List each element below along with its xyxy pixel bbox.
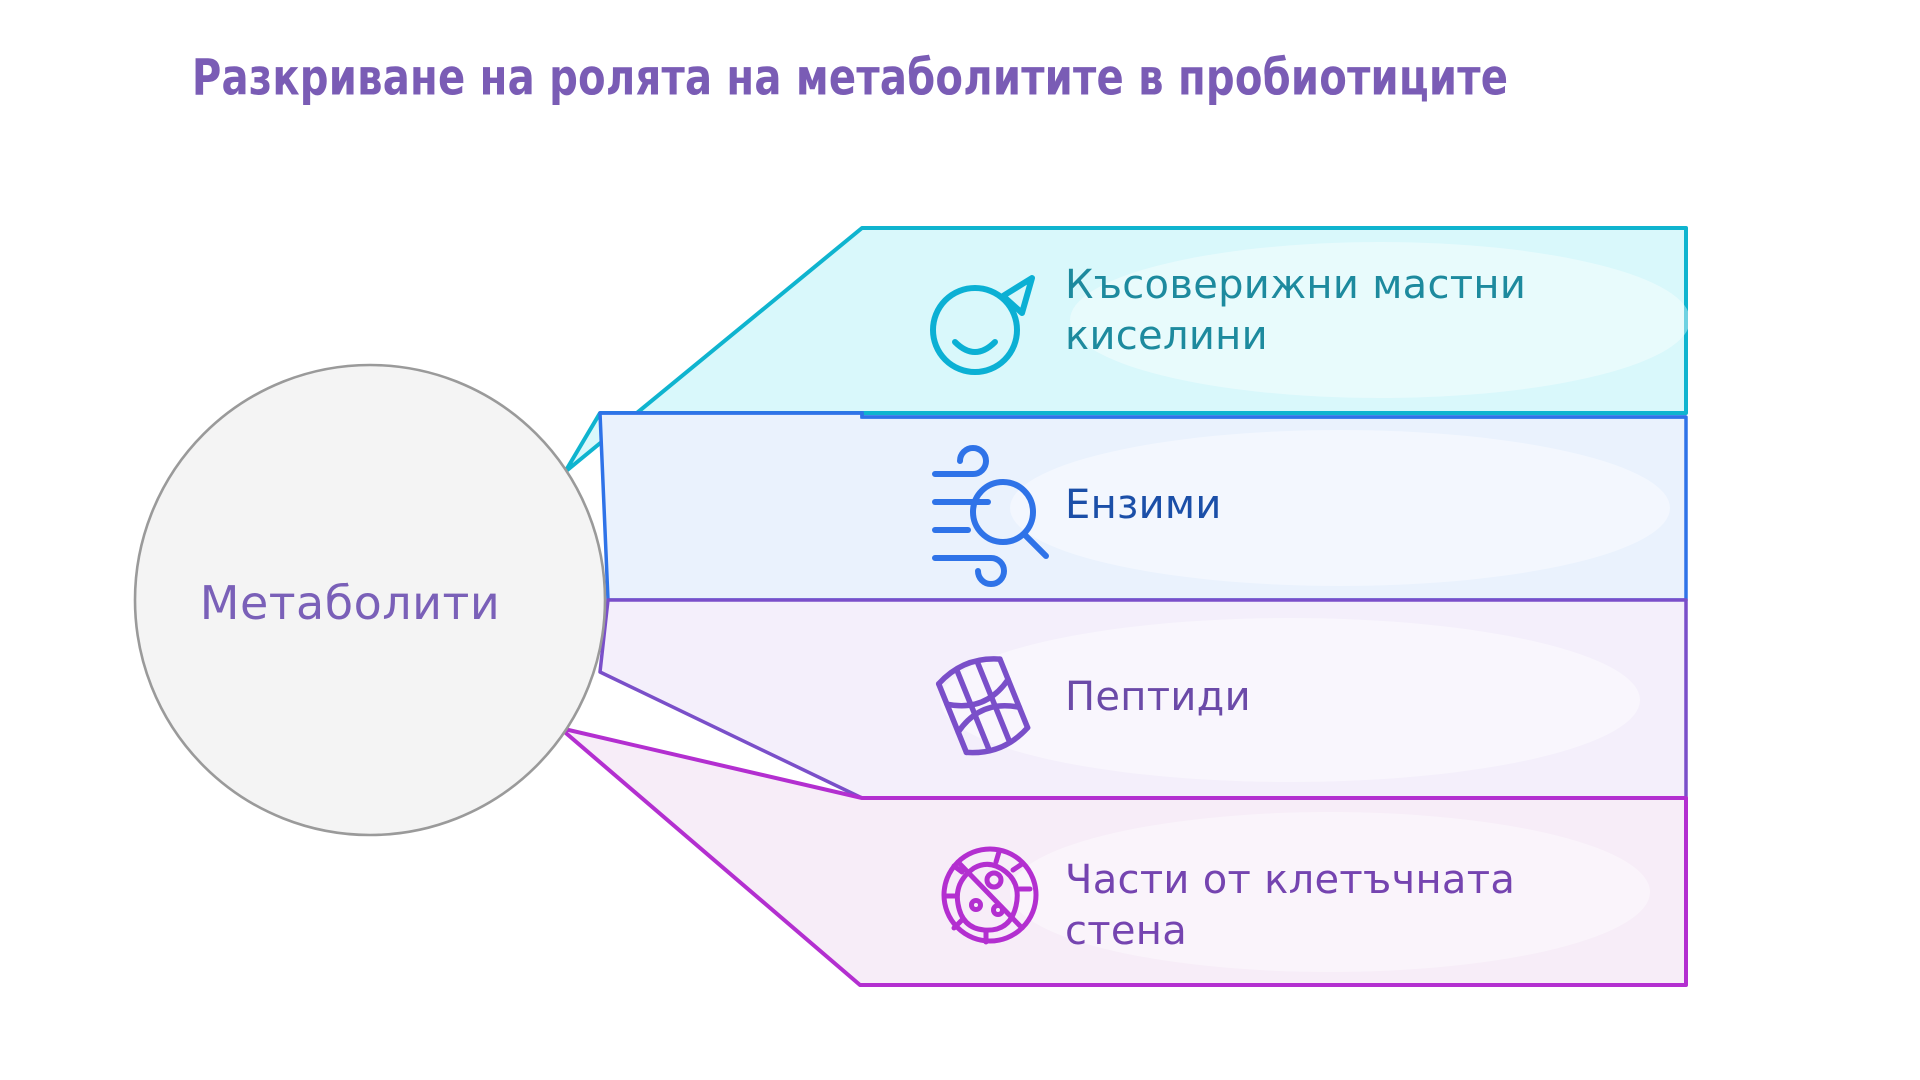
row-label-short-chain-fatty-acids: Късоверижни мастни киселини bbox=[1065, 260, 1605, 362]
row-label-enzymes: Ензими bbox=[1065, 480, 1605, 531]
hub-label: Метаболити bbox=[120, 576, 580, 630]
row-label-peptides: Пептиди bbox=[1065, 672, 1605, 723]
infographic-canvas: Разкриване на ролята на метаболитите в п… bbox=[0, 0, 1920, 1080]
row-label-cell-wall-fragments: Части от клетъчната стена bbox=[1065, 855, 1625, 957]
metabolites-fan-diagram bbox=[0, 0, 1920, 1080]
